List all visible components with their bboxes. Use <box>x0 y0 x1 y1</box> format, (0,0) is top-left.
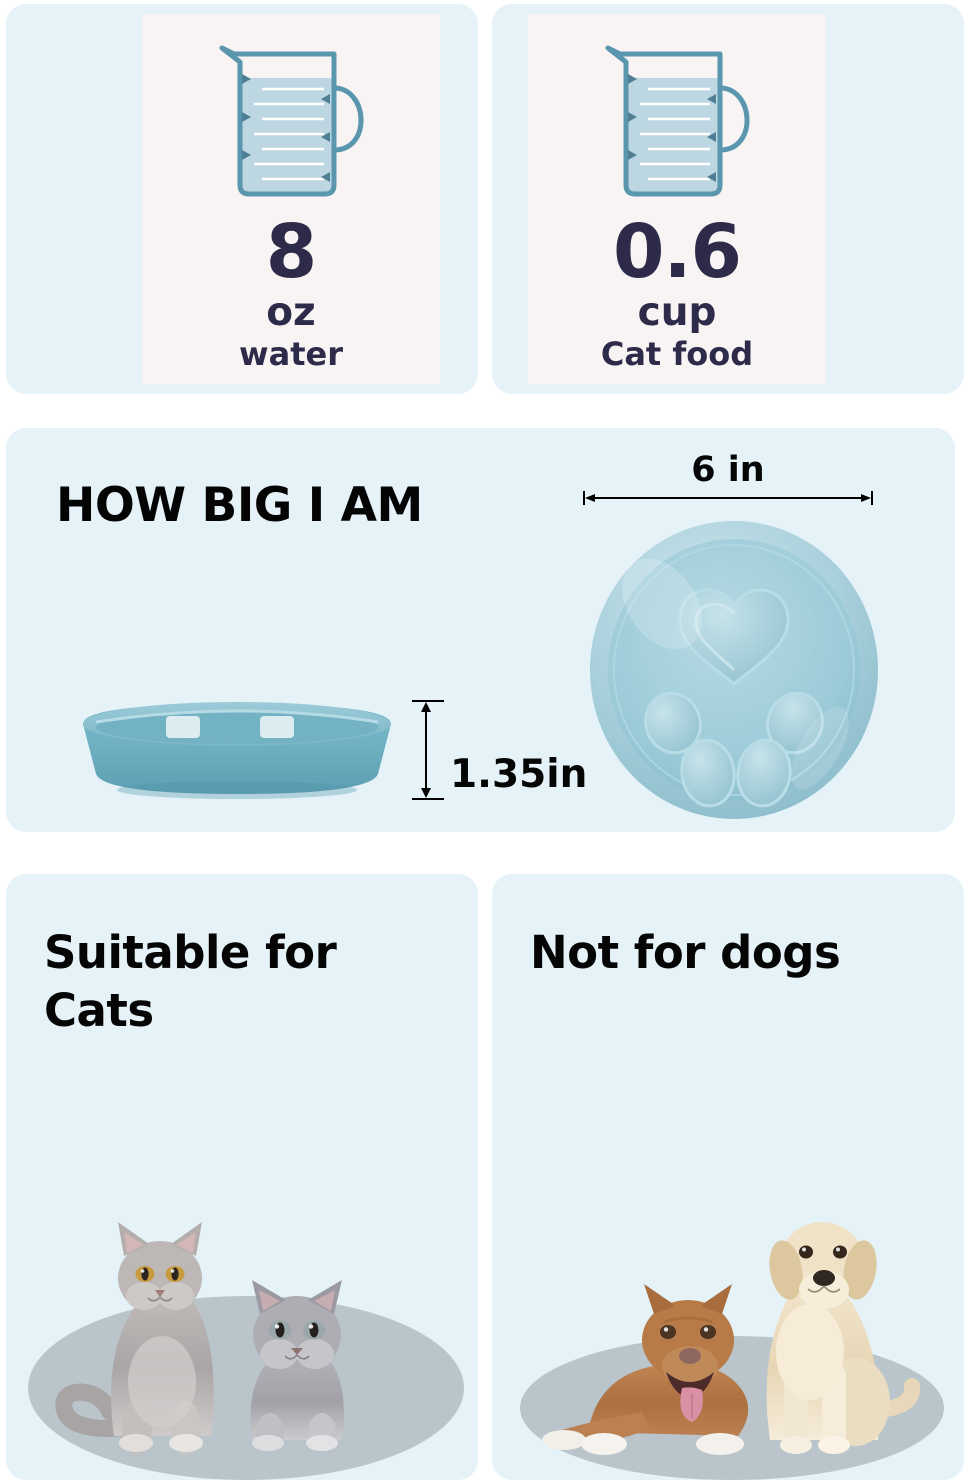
measurement-value: 8 <box>142 212 440 292</box>
width-dimension-arrow <box>583 490 873 504</box>
measurement-subject: Cat food <box>528 336 826 372</box>
measurement-unit: cup <box>528 292 826 334</box>
card-title: Suitable for Cats <box>44 924 444 1040</box>
measurement-subject: water <box>142 336 440 372</box>
suitability-card-cats: Suitable for Cats <box>6 874 478 1480</box>
bowl-side-view <box>78 694 396 802</box>
measurement-card-water: 8 oz water <box>6 4 478 394</box>
height-dimension-arrow <box>412 700 444 800</box>
dogs-photo <box>492 1140 964 1480</box>
suitability-card-dogs: Not for dogs <box>492 874 964 1480</box>
measuring-cup-icon <box>588 32 766 210</box>
measurement-value: 0.6 <box>528 212 826 292</box>
measurement-panel: 8 oz water <box>142 14 440 384</box>
page-title: HOW BIG I AM <box>56 478 423 533</box>
card-title: Not for dogs <box>530 924 930 982</box>
measuring-cup-icon <box>202 32 380 210</box>
measurement-unit: oz <box>142 292 440 334</box>
measurement-panel: 0.6 cup Cat food <box>528 14 826 384</box>
bowl-top-view <box>588 518 880 820</box>
height-dimension-label: 1.35in <box>450 752 587 797</box>
cats-photo <box>6 1140 478 1480</box>
measurement-card-food: 0.6 cup Cat food <box>492 4 964 394</box>
width-dimension-label: 6 in <box>583 450 873 490</box>
